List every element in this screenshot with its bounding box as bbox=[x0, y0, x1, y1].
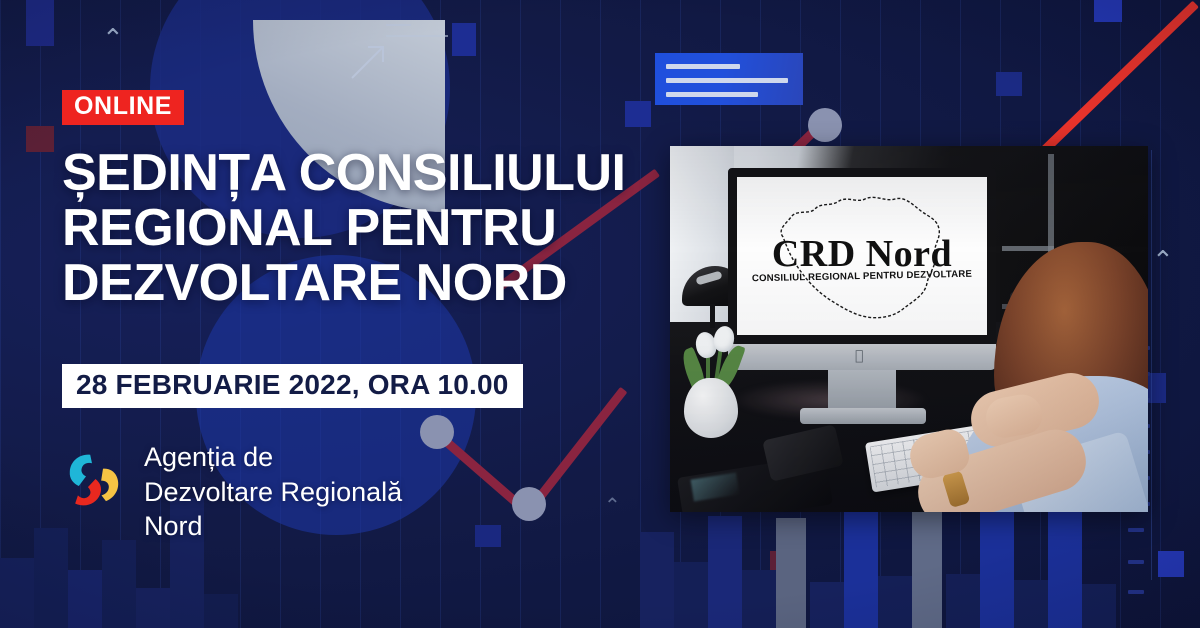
desk-lamp-stem bbox=[710, 304, 715, 328]
imac-stand-foot bbox=[800, 408, 926, 424]
imac-screen: CRD Nord CONSILIUL REGIONAL PENTRU DEZVO… bbox=[737, 177, 987, 335]
crd-logo-title: CRD Nord bbox=[737, 235, 987, 273]
poster-content: ONLINE ȘEDINȚA CONSILIULUI REGIONAL PENT… bbox=[62, 0, 682, 628]
status-badge-online: ONLINE bbox=[62, 90, 184, 125]
organization-block: Agenția de Dezvoltare Regională Nord bbox=[62, 440, 402, 544]
flower-vase bbox=[684, 378, 738, 438]
page-title-line-2: REGIONAL PENTRU bbox=[62, 201, 682, 256]
page-title-line-3: DEZVOLTARE NORD bbox=[62, 256, 682, 311]
organization-name: Agenția de Dezvoltare Regională Nord bbox=[144, 440, 402, 544]
photo-shelf-board bbox=[1002, 246, 1054, 251]
event-date-time: 28 FEBRUARIE 2022, ORA 10.00 bbox=[62, 364, 523, 408]
event-poster: ⌃ ⌃ ⌃ ⌃ bbox=[0, 0, 1200, 628]
page-title-line-1: ȘEDINȚA CONSILIULUI bbox=[62, 146, 682, 201]
imac-stand-neck bbox=[828, 370, 896, 412]
adr-nord-pinwheel-logo-icon bbox=[62, 446, 122, 514]
apple-logo-icon:  bbox=[855, 349, 863, 363]
crd-nord-logo: CRD Nord CONSILIUL REGIONAL PENTRU DEZVO… bbox=[737, 177, 987, 335]
page-title: ȘEDINȚA CONSILIULUI REGIONAL PENTRU DEZV… bbox=[62, 146, 682, 311]
event-photo: CRD Nord CONSILIUL REGIONAL PENTRU DEZVO… bbox=[670, 146, 1148, 512]
